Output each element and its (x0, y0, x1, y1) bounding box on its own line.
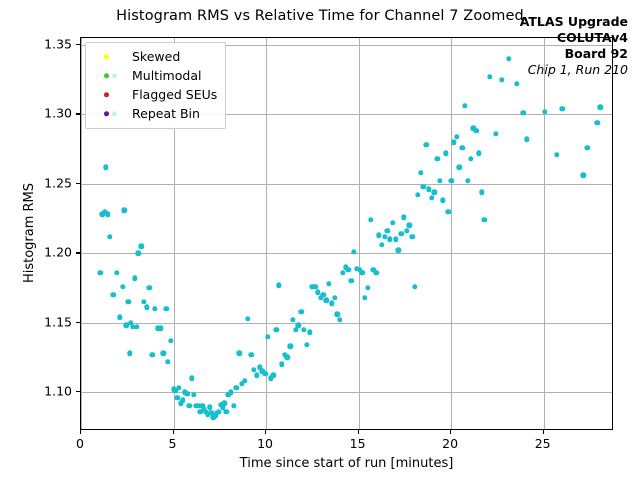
data-point (262, 371, 267, 376)
data-point (351, 249, 356, 254)
data-point (242, 378, 247, 383)
x-axis-label: Time since start of run [minutes] (80, 456, 613, 471)
legend-dot (104, 54, 109, 59)
data-point (440, 198, 445, 203)
x-tick-label-2: 10 (257, 436, 273, 451)
data-point (595, 120, 600, 125)
data-point (499, 77, 504, 82)
data-point (304, 342, 309, 347)
legend-item-repeat-bin[interactable]: Repeat Bin (92, 104, 217, 123)
data-point (279, 362, 284, 367)
data-point (362, 295, 367, 300)
data-point (360, 270, 365, 275)
data-point (465, 178, 470, 183)
y-tick-mark-3 (76, 183, 80, 184)
data-point (448, 178, 453, 183)
x-tick-mark-3 (358, 430, 359, 434)
data-point (274, 327, 279, 332)
matplotlib-figure: Histogram RMS vs Relative Time for Chann… (0, 0, 640, 480)
data-point (152, 306, 157, 311)
data-point (117, 314, 122, 319)
data-point (435, 156, 440, 161)
y-tick-mark-5 (76, 44, 80, 45)
legend-item-multimodal[interactable]: Multimodal (92, 66, 217, 85)
data-point (373, 270, 378, 275)
data-point (107, 234, 112, 239)
legend-label: Skewed (132, 49, 180, 64)
x-tick-mark-2 (265, 430, 266, 434)
data-point (340, 270, 345, 275)
x-tick-mark-0 (80, 430, 81, 434)
data-point (404, 228, 409, 233)
data-point (134, 324, 139, 329)
data-point (451, 139, 456, 144)
data-point (180, 398, 185, 403)
data-point (506, 56, 511, 61)
data-point (231, 403, 236, 408)
legend-marker-icon (92, 108, 128, 120)
data-point (487, 74, 492, 79)
data-point (332, 295, 337, 300)
data-point (473, 128, 478, 133)
legend-dot-secondary (112, 73, 117, 78)
data-point (415, 192, 420, 197)
data-point (329, 301, 334, 306)
data-point (265, 334, 270, 339)
data-point (290, 317, 295, 322)
x-tick-label-4: 20 (442, 436, 458, 451)
data-point (187, 403, 192, 408)
data-point (158, 326, 163, 331)
legend-marker-icon (92, 51, 128, 63)
data-point (418, 170, 423, 175)
legend-dot (104, 92, 109, 97)
x-tick-mark-1 (173, 430, 174, 434)
data-point (542, 109, 547, 114)
data-point (245, 316, 250, 321)
data-point (460, 145, 465, 150)
data-point (191, 392, 196, 397)
data-point (462, 103, 467, 108)
legend-dot-secondary (112, 111, 117, 116)
y-tick-label-4: 1.30 (44, 106, 72, 121)
data-point (111, 292, 116, 297)
data-point (365, 285, 370, 290)
data-point (176, 385, 181, 390)
data-point (524, 137, 529, 142)
data-point (168, 338, 173, 343)
data-point (412, 284, 417, 289)
x-tick-label-3: 15 (350, 436, 366, 451)
legend-dot (104, 73, 109, 78)
data-point (476, 151, 481, 156)
data-point (443, 151, 448, 156)
data-point (454, 134, 459, 139)
data-point (393, 237, 398, 242)
y-tick-mark-1 (76, 322, 80, 323)
x-tick-label-5: 25 (535, 436, 551, 451)
data-point (224, 409, 229, 414)
data-point (379, 242, 384, 247)
data-point (249, 352, 254, 357)
data-point (407, 223, 412, 228)
data-point (482, 217, 487, 222)
legend-label: Multimodal (132, 68, 201, 83)
legend[interactable]: SkewedMultimodalFlagged SEUsRepeat Bin (85, 42, 226, 129)
legend-marker-icon (92, 70, 128, 82)
data-point (138, 244, 143, 249)
data-point (165, 359, 170, 364)
legend-item-skewed[interactable]: Skewed (92, 47, 217, 66)
data-point (189, 376, 194, 381)
data-point (396, 248, 401, 253)
data-point (132, 276, 137, 281)
data-point (122, 207, 127, 212)
data-point (237, 351, 242, 356)
data-point (410, 234, 415, 239)
y-tick-label-3: 1.25 (44, 175, 72, 190)
y-tick-mark-0 (76, 391, 80, 392)
data-point (584, 145, 589, 150)
data-point (120, 284, 125, 289)
data-point (514, 81, 519, 86)
data-point (554, 152, 559, 157)
data-point (144, 305, 149, 310)
data-point (337, 317, 342, 322)
y-tick-label-5: 1.35 (44, 36, 72, 51)
legend-dot (104, 111, 109, 116)
data-point (346, 267, 351, 272)
data-point (185, 391, 190, 396)
data-point (222, 401, 227, 406)
data-point (276, 282, 281, 287)
data-point (468, 156, 473, 161)
data-point (216, 409, 221, 414)
y-tick-label-0: 1.10 (44, 384, 72, 399)
x-tick-mark-4 (450, 430, 451, 434)
data-point (437, 178, 442, 183)
data-point (493, 131, 498, 136)
data-point (429, 195, 434, 200)
data-point (147, 285, 152, 290)
data-point (597, 105, 602, 110)
data-point (559, 106, 564, 111)
x-tick-label-1: 5 (169, 436, 177, 451)
legend-item-flagged-seus[interactable]: Flagged SEUs (92, 85, 217, 104)
data-point (161, 351, 166, 356)
y-axis-label: Histogram RMS (22, 133, 37, 333)
x-tick-label-0: 0 (76, 436, 84, 451)
data-point (299, 309, 304, 314)
data-point (390, 220, 395, 225)
legend-label: Flagged SEUs (132, 87, 217, 102)
x-tick-mark-5 (543, 430, 544, 434)
y-tick-mark-4 (76, 113, 80, 114)
data-point (432, 189, 437, 194)
data-point (271, 373, 276, 378)
data-point (401, 214, 406, 219)
data-point (521, 110, 526, 115)
data-point (125, 299, 130, 304)
data-point (479, 189, 484, 194)
data-point (228, 389, 233, 394)
data-point (296, 323, 301, 328)
data-point (285, 355, 290, 360)
data-point (326, 281, 331, 286)
data-point (150, 352, 155, 357)
y-tick-label-1: 1.15 (44, 314, 72, 329)
data-point (348, 278, 353, 283)
y-tick-mark-2 (76, 252, 80, 253)
legend-marker-icon (92, 89, 128, 101)
data-point (105, 212, 110, 217)
data-point (307, 330, 312, 335)
data-point (368, 217, 373, 222)
data-point (254, 373, 259, 378)
data-point (457, 164, 462, 169)
data-point (287, 344, 292, 349)
data-point (234, 385, 239, 390)
data-point (385, 228, 390, 233)
data-point (581, 173, 586, 178)
legend-label: Repeat Bin (132, 106, 200, 121)
data-point (163, 306, 168, 311)
data-point (103, 164, 108, 169)
data-point (127, 351, 132, 356)
y-tick-label-2: 1.20 (44, 245, 72, 260)
data-point (398, 231, 403, 236)
data-point (136, 251, 141, 256)
page-title: Histogram RMS vs Relative Time for Chann… (0, 8, 640, 24)
data-point (98, 270, 103, 275)
data-point (423, 142, 428, 147)
data-point (446, 209, 451, 214)
data-point (114, 270, 119, 275)
